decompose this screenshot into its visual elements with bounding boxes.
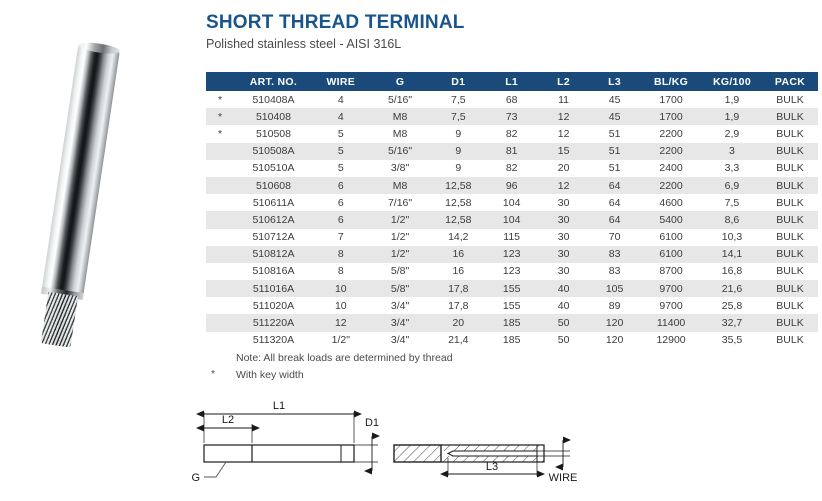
cell-l2: 40 (538, 280, 589, 297)
cell-g: 3/4" (369, 314, 432, 331)
cell-l3: 83 (589, 263, 640, 280)
cell-wire: 4 (313, 91, 369, 108)
cell-g: M8 (369, 108, 432, 125)
cell-star: * (206, 108, 234, 125)
cell-l2: 15 (538, 143, 589, 160)
cell-l3: 51 (589, 125, 640, 142)
cell-kg-100: 7,5 (702, 194, 762, 211)
cell-star (206, 280, 234, 297)
cell-star: * (206, 91, 234, 108)
cell-g: 5/8" (369, 263, 432, 280)
page-title: SHORT THREAD TERMINAL (206, 12, 465, 34)
cell-g: 1/2" (369, 211, 432, 228)
cell-wire: 5 (313, 125, 369, 142)
column-header-l3: L3 (589, 72, 640, 91)
cell-bl-kg: 12900 (640, 332, 702, 349)
cell-wire: 5 (313, 143, 369, 160)
cell-d1: 20 (431, 314, 485, 331)
cell-star (206, 246, 234, 263)
cell-kg-100: 21,6 (702, 280, 762, 297)
cell-l3: 70 (589, 229, 640, 246)
cell-star (206, 211, 234, 228)
column-header-pack: PACK (762, 72, 818, 91)
section-bore-cavity (448, 451, 537, 456)
column-header-l1: L1 (485, 72, 538, 91)
cell-l3: 51 (589, 143, 640, 160)
cell-art-no: 510508 (234, 125, 313, 142)
rod-shaft (41, 44, 120, 299)
cell-wire: 7 (313, 229, 369, 246)
cell-wire: 4 (313, 108, 369, 125)
cell-pack: BULK (762, 332, 818, 349)
cell-pack: BULK (762, 314, 818, 331)
cell-art-no: 510508A (234, 143, 313, 160)
note-star-text: With key width (236, 369, 304, 381)
dimension-label-l2: L2 (222, 414, 234, 426)
cell-kg-100: 1,9 (702, 91, 762, 108)
cell-wire: 8 (313, 263, 369, 280)
cell-l3: 64 (589, 177, 640, 194)
cell-l1: 104 (485, 194, 538, 211)
cell-art-no: 510611A (234, 194, 313, 211)
cell-g: 1/2" (369, 246, 432, 263)
cell-g: 3/4" (369, 297, 432, 314)
cell-kg-100: 32,7 (702, 314, 762, 331)
cell-pack: BULK (762, 246, 818, 263)
cell-art-no: 511016A (234, 280, 313, 297)
cell-l3: 120 (589, 332, 640, 349)
cell-bl-kg: 2400 (640, 160, 702, 177)
cell-l3: 89 (589, 297, 640, 314)
cell-d1: 12,58 (431, 194, 485, 211)
cell-art-no: 511320A (234, 332, 313, 349)
cell-l3: 64 (589, 211, 640, 228)
cell-pack: BULK (762, 297, 818, 314)
cell-kg-100: 6,9 (702, 177, 762, 194)
cell-g: M8 (369, 177, 432, 194)
cell-l2: 30 (538, 263, 589, 280)
cell-star (206, 314, 234, 331)
cell-art-no: 510816A (234, 263, 313, 280)
cell-star (206, 229, 234, 246)
side-view-drawing: L1 L2 D1 G (191, 400, 379, 484)
cell-pack: BULK (762, 263, 818, 280)
cell-kg-100: 16,8 (702, 263, 762, 280)
section-thread-hatch (394, 445, 441, 462)
page-subtitle: Polished stainless steel - AISI 316L (206, 37, 401, 51)
table-row: 510510A53/8"982205124003,3BULK (206, 160, 818, 177)
cell-l1: 81 (485, 143, 538, 160)
cell-l1: 68 (485, 91, 538, 108)
cell-wire: 6 (313, 211, 369, 228)
cell-bl-kg: 2200 (640, 143, 702, 160)
cell-pack: BULK (762, 194, 818, 211)
column-header-art-no: ART. NO. (234, 72, 313, 91)
cell-pack: BULK (762, 143, 818, 160)
table-header-row: ART. NO. WIRE G D1 L1 L2 L3 BL/KG KG/100… (206, 72, 818, 91)
leader-line-g (204, 462, 226, 477)
cell-kg-100: 35,5 (702, 332, 762, 349)
cell-g: 5/16" (369, 143, 432, 160)
table-header: ART. NO. WIRE G D1 L1 L2 L3 BL/KG KG/100… (206, 72, 818, 91)
cell-art-no: 510608 (234, 177, 313, 194)
cell-bl-kg: 11400 (640, 314, 702, 331)
cell-l1: 123 (485, 263, 538, 280)
cell-art-no: 510712A (234, 229, 313, 246)
cell-kg-100: 2,9 (702, 125, 762, 142)
cell-star (206, 297, 234, 314)
cell-l2: 12 (538, 125, 589, 142)
cell-d1: 17,8 (431, 297, 485, 314)
cell-d1: 21,4 (431, 332, 485, 349)
column-header-wire: WIRE (313, 72, 369, 91)
cell-pack: BULK (762, 91, 818, 108)
table-row: *510408A45/16"7,568114517001,9BULK (206, 91, 818, 108)
cell-art-no: 510612A (234, 211, 313, 228)
cell-l2: 20 (538, 160, 589, 177)
cell-d1: 17,8 (431, 280, 485, 297)
cell-art-no: 510408A (234, 91, 313, 108)
table-row: *5105085M8982125122002,9BULK (206, 125, 818, 142)
cell-kg-100: 10,3 (702, 229, 762, 246)
cell-bl-kg: 1700 (640, 108, 702, 125)
column-header-g: G (369, 72, 432, 91)
table-row: 510712A71/2"14,21153070610010,3BULK (206, 229, 818, 246)
cell-g: 7/16" (369, 194, 432, 211)
cell-d1: 16 (431, 246, 485, 263)
cell-l2: 50 (538, 314, 589, 331)
rod-threaded-section (41, 292, 78, 348)
column-header-d1: D1 (431, 72, 485, 91)
cell-l1: 155 (485, 297, 538, 314)
cell-d1: 12,58 (431, 177, 485, 194)
cell-bl-kg: 2200 (640, 177, 702, 194)
cell-star: * (206, 125, 234, 142)
technical-drawings: L1 L2 D1 G (182, 396, 632, 501)
cell-pack: BULK (762, 125, 818, 142)
table-row: 510816A85/8"161233083870016,8BULK (206, 263, 818, 280)
cell-d1: 12,58 (431, 211, 485, 228)
cell-pack: BULK (762, 280, 818, 297)
dimension-label-g: G (191, 472, 200, 484)
cell-art-no: 511020A (234, 297, 313, 314)
table-row: 511016A105/8"17,815540105970021,6BULK (206, 280, 818, 297)
product-photo (0, 0, 200, 400)
cell-bl-kg: 6100 (640, 229, 702, 246)
cell-kg-100: 8,6 (702, 211, 762, 228)
table-row: 510508A55/16"981155122003BULK (206, 143, 818, 160)
cell-l1: 155 (485, 280, 538, 297)
cell-art-no: 511220A (234, 314, 313, 331)
cell-kg-100: 3,3 (702, 160, 762, 177)
table-row: *5104084M87,573124517001,9BULK (206, 108, 818, 125)
cell-pack: BULK (762, 211, 818, 228)
cell-l3: 64 (589, 194, 640, 211)
table-row: 510612A61/2"12,58104306454008,6BULK (206, 211, 818, 228)
cell-star (206, 177, 234, 194)
cell-wire: 12 (313, 314, 369, 331)
cell-art-no: 510510A (234, 160, 313, 177)
cell-l2: 12 (538, 108, 589, 125)
cell-star (206, 263, 234, 280)
cell-l2: 11 (538, 91, 589, 108)
table-row: 511220A123/4"20185501201140032,7BULK (206, 314, 818, 331)
cell-l2: 12 (538, 177, 589, 194)
dimension-label-wire: WIRE (549, 472, 578, 484)
cell-bl-kg: 8700 (640, 263, 702, 280)
cell-d1: 9 (431, 160, 485, 177)
cell-l2: 30 (538, 194, 589, 211)
cell-kg-100: 25,8 (702, 297, 762, 314)
threaded-rod-image (34, 44, 134, 349)
cell-star (206, 160, 234, 177)
cell-pack: BULK (762, 160, 818, 177)
cell-kg-100: 3 (702, 143, 762, 160)
cell-l1: 73 (485, 108, 538, 125)
table-row: 511020A103/4"17,81554089970025,8BULK (206, 297, 818, 314)
cell-l2: 50 (538, 332, 589, 349)
cell-g: 3/8" (369, 160, 432, 177)
column-header-l2: L2 (538, 72, 589, 91)
cell-wire: 1/2" (313, 332, 369, 349)
cell-g: 1/2" (369, 229, 432, 246)
cell-bl-kg: 5400 (640, 211, 702, 228)
cell-wire: 5 (313, 160, 369, 177)
table-row: 510611A67/16"12,58104306446007,5BULK (206, 194, 818, 211)
cell-l3: 83 (589, 246, 640, 263)
cell-d1: 7,5 (431, 91, 485, 108)
section-view-drawing: L3 WIRE (394, 440, 577, 484)
cell-l3: 45 (589, 108, 640, 125)
cell-g: 5/16" (369, 91, 432, 108)
cell-d1: 9 (431, 125, 485, 142)
cell-l2: 30 (538, 246, 589, 263)
dimension-label-l1: L1 (273, 400, 285, 412)
cell-g: 3/4" (369, 332, 432, 349)
cell-l1: 82 (485, 125, 538, 142)
cell-bl-kg: 9700 (640, 297, 702, 314)
cell-l2: 40 (538, 297, 589, 314)
cell-bl-kg: 2200 (640, 125, 702, 142)
note-break-load: Note: All break loads are determined by … (236, 352, 453, 364)
cell-l3: 120 (589, 314, 640, 331)
cell-wire: 6 (313, 194, 369, 211)
cell-l1: 115 (485, 229, 538, 246)
cell-kg-100: 14,1 (702, 246, 762, 263)
table-row: 510812A81/2"161233083610014,1BULK (206, 246, 818, 263)
cell-pack: BULK (762, 177, 818, 194)
cell-wire: 6 (313, 177, 369, 194)
cell-l1: 96 (485, 177, 538, 194)
dimension-drawings-svg: L1 L2 D1 G (182, 396, 632, 501)
column-header-kg-100: KG/100 (702, 72, 762, 91)
cell-l3: 51 (589, 160, 640, 177)
cell-star (206, 143, 234, 160)
cell-g: M8 (369, 125, 432, 142)
dimension-label-d1: D1 (365, 417, 379, 429)
cell-l1: 123 (485, 246, 538, 263)
table-body: *510408A45/16"7,568114517001,9BULK*51040… (206, 91, 818, 349)
cell-art-no: 510408 (234, 108, 313, 125)
cell-l2: 30 (538, 229, 589, 246)
table-row: 5106086M812,5896126422006,9BULK (206, 177, 818, 194)
cell-kg-100: 1,9 (702, 108, 762, 125)
cell-d1: 7,5 (431, 108, 485, 125)
dimension-label-l3: L3 (486, 461, 498, 473)
section-wall-top (441, 445, 544, 451)
cell-pack: BULK (762, 229, 818, 246)
product-datasheet-page: SHORT THREAD TERMINAL Polished stainless… (0, 0, 822, 501)
cell-bl-kg: 9700 (640, 280, 702, 297)
cell-l1: 185 (485, 314, 538, 331)
cell-pack: BULK (762, 108, 818, 125)
cell-l3: 45 (589, 91, 640, 108)
cell-wire: 10 (313, 297, 369, 314)
table-row: 511320A1/2"3/4"21,4185501201290035,5BULK (206, 332, 818, 349)
cell-l1: 185 (485, 332, 538, 349)
rod-body-outline (204, 445, 354, 462)
cell-d1: 14,2 (431, 229, 485, 246)
cell-wire: 8 (313, 246, 369, 263)
cell-star (206, 194, 234, 211)
cell-bl-kg: 6100 (640, 246, 702, 263)
cell-l3: 105 (589, 280, 640, 297)
cell-l1: 82 (485, 160, 538, 177)
cell-bl-kg: 4600 (640, 194, 702, 211)
specification-table: ART. NO. WIRE G D1 L1 L2 L3 BL/KG KG/100… (206, 72, 818, 349)
cell-star (206, 332, 234, 349)
cell-wire: 10 (313, 280, 369, 297)
cell-d1: 16 (431, 263, 485, 280)
cell-bl-kg: 1700 (640, 91, 702, 108)
cell-g: 5/8" (369, 280, 432, 297)
cell-art-no: 510812A (234, 246, 313, 263)
cell-l2: 30 (538, 211, 589, 228)
note-star-marker: * (211, 368, 215, 380)
column-header-bl-kg: BL/KG (640, 72, 702, 91)
column-header-star (206, 72, 234, 91)
cell-d1: 9 (431, 143, 485, 160)
cell-l1: 104 (485, 211, 538, 228)
